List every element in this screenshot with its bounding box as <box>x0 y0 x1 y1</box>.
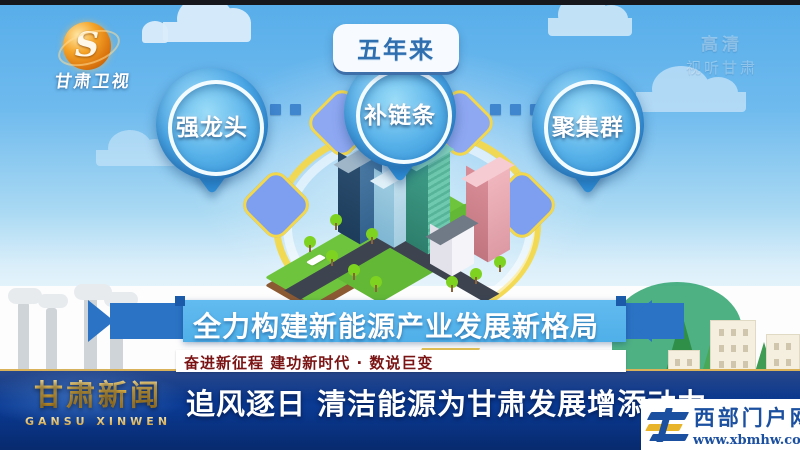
pin-badge-1-label: 强龙头 <box>156 108 268 142</box>
hd-watermark: 高清 视听甘肃 <box>686 30 758 78</box>
hd-watermark-line2: 视听甘肃 <box>686 57 758 78</box>
five-years-pill: 五年来 <box>333 24 459 72</box>
broadcast-screen: S 甘肃卫视 高清 视听甘肃 五年来 <box>0 0 800 450</box>
banner-left-bar <box>110 303 186 339</box>
pin-badge-1[interactable]: 强龙头 <box>156 68 268 180</box>
pin-badge-3-label: 聚集群 <box>532 108 644 142</box>
smoke-plume-icon <box>38 294 68 308</box>
cloud-icon <box>636 92 746 112</box>
headline-banner: 全力构建新能源产业发展新格局 <box>183 300 626 342</box>
pin-badge-2[interactable]: 补链条 <box>344 56 456 168</box>
banner-right-arrow <box>626 300 652 342</box>
channel-logo: S 甘肃卫视 <box>55 22 165 84</box>
five-years-label: 五年来 <box>357 36 435 64</box>
smoke-plume-icon <box>8 288 42 304</box>
channel-name: 甘肃卫视 <box>53 67 167 92</box>
program-logo-en: GANSU XINWEN <box>18 415 178 428</box>
site-watermark: 西部门户网 www.xbmhw.com <box>641 399 800 450</box>
program-logo: 甘肃新闻 GANSU XINWEN <box>18 372 178 430</box>
subtitle-text: 奋进新征程 建功新时代 · 数说巨变 <box>176 350 626 373</box>
program-logo-cn: 甘肃新闻 <box>18 372 178 414</box>
banner-notch-right <box>616 296 626 306</box>
letterbox-top <box>0 0 800 5</box>
pin-badge-2-label: 补链条 <box>344 96 456 130</box>
subtitle-strip: 奋进新征程 建功新时代 · 数说巨变 <box>176 350 626 372</box>
site-watermark-cn: 西部门户网 <box>693 402 800 432</box>
hd-watermark-line1: 高清 <box>686 30 758 55</box>
headline-banner-text: 全力构建新能源产业发展新格局 <box>183 300 626 345</box>
cloud-icon <box>163 22 251 42</box>
xbmhw-logo-icon <box>645 405 693 445</box>
pin-badge-3[interactable]: 聚集群 <box>532 68 644 180</box>
site-watermark-url: www.xbmhw.com <box>693 433 800 448</box>
banner-notch-left <box>175 296 185 306</box>
banner-left-arrow <box>88 300 114 342</box>
cloud-icon <box>548 18 632 36</box>
